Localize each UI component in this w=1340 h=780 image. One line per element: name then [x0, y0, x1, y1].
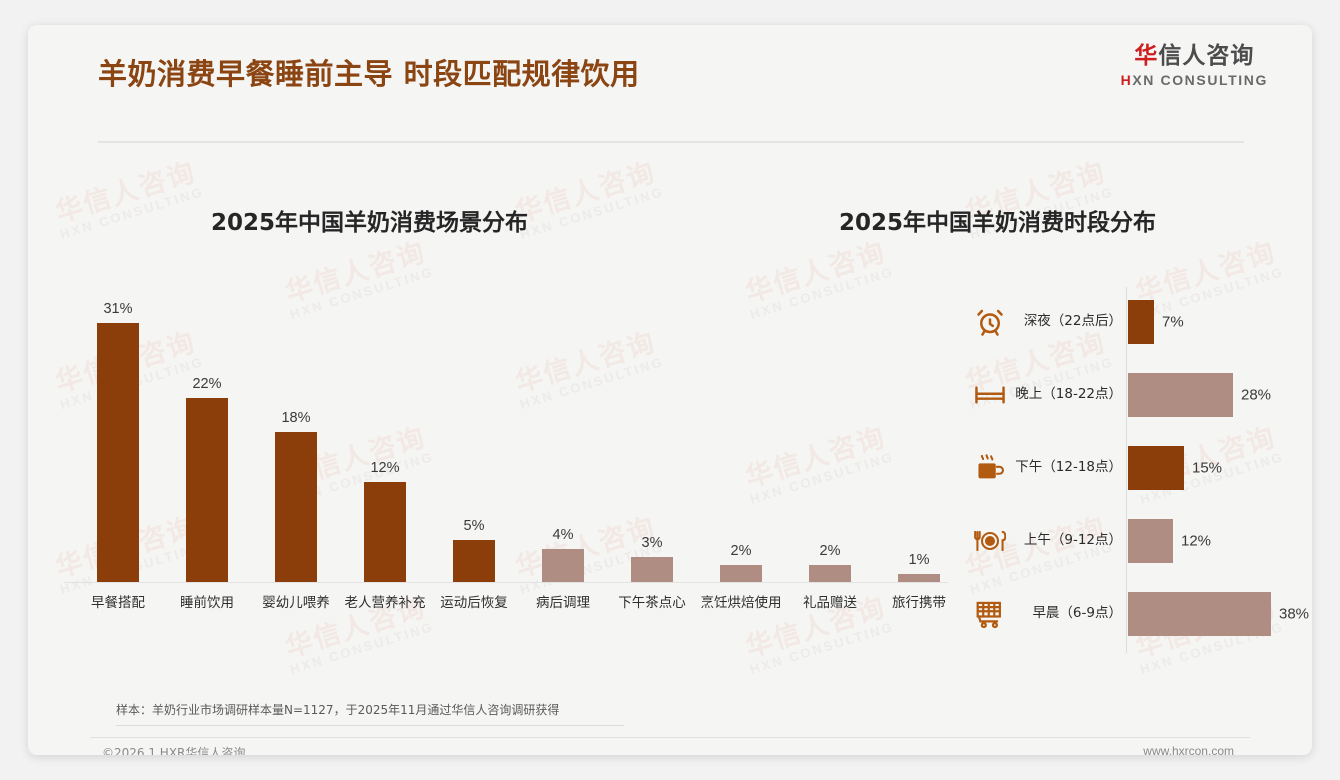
bar-value-label: 7%: [1162, 314, 1184, 331]
category-label: 病后调理: [536, 591, 590, 611]
category-label: 早餐搭配: [91, 591, 145, 611]
bar-value-label: 12%: [370, 460, 399, 476]
bar-value-label: 3%: [642, 535, 663, 551]
logo-en-rest: XN CONSULTING: [1132, 72, 1268, 88]
slide-header: 羊奶消费早餐睡前主导 时段匹配规律饮用 华信人咨询 HXN CONSULTING: [28, 25, 1312, 115]
bar-track: 38%: [1128, 581, 1298, 647]
bar-track: 28%: [1128, 362, 1298, 428]
sample-footnote: 样本：羊奶行业市场调研样本量N=1127，于2025年11月通过华信人咨询调研获…: [116, 701, 559, 718]
logo-en-red: H: [1121, 72, 1133, 88]
bar-rect: [542, 549, 584, 582]
bar-value-label: 1%: [909, 552, 930, 568]
header-divider: [98, 141, 1244, 143]
logo-cn-red: 华: [1134, 43, 1158, 69]
timeslot-label: 深夜（22点后）: [1012, 312, 1128, 332]
category-label: 礼品赠送: [803, 591, 857, 611]
bar-track: 15%: [1128, 435, 1298, 501]
category-label: 旅行携带: [892, 591, 946, 611]
column-plot-area: 31%22%18%12%5%4%3%2%2%1%: [56, 287, 956, 583]
bar-rect: [631, 557, 673, 582]
footnote-divider: [116, 725, 624, 726]
company-logo: 华信人咨询 HXN CONSULTING: [1121, 43, 1268, 88]
timeslot-label: 早晨（6-9点）: [1012, 604, 1128, 624]
column-bar[interactable]: 12%: [364, 482, 406, 582]
bar-value-label: 5%: [464, 518, 485, 534]
coffee-cup-icon: [968, 452, 1012, 484]
bar-track: 12%: [1128, 508, 1298, 574]
bar-value-label: 2%: [731, 543, 752, 559]
timeslot-label: 晚上（18-22点）: [1012, 385, 1128, 405]
timeslot-row[interactable]: 上午（9-12点）12%: [968, 508, 1298, 574]
category-label: 老人营养补充: [345, 591, 426, 611]
category-label: 烹饪烘焙使用: [701, 591, 782, 611]
slide-card: 华信人咨询HXN CONSULTING华信人咨询HXN CONSULTING华信…: [28, 25, 1312, 755]
bar-value-label: 2%: [820, 543, 841, 559]
chart-title-right: 2025年中国羊奶消费时段分布: [839, 203, 1156, 237]
alarm-clock-icon: [968, 307, 1012, 337]
column-bar[interactable]: 31%: [97, 323, 139, 582]
bar-rect: [1128, 446, 1184, 490]
bar-rect: [453, 540, 495, 582]
column-bar[interactable]: 3%: [631, 557, 673, 582]
timeslot-label: 下午（12-18点）: [1012, 458, 1128, 478]
plate-cutlery-icon: [968, 528, 1012, 554]
bar-rect: [898, 574, 940, 582]
column-category-axis: 早餐搭配睡前饮用婴幼儿喂养老人营养补充运动后恢复病后调理下午茶点心烹饪烘焙使用礼…: [56, 585, 956, 621]
category-label: 睡前饮用: [180, 591, 234, 611]
footer-website: www.hxrcon.com: [1143, 744, 1234, 755]
bar-value-label: 15%: [1192, 460, 1222, 477]
column-bar[interactable]: 18%: [275, 432, 317, 582]
timeslot-bar-chart: 深夜（22点后）7%晚上（18-22点）28%下午（12-18点）15%上午（9…: [968, 287, 1298, 653]
watermark: 华信人咨询HXN CONSULTING: [31, 151, 226, 249]
bar-rect: [1128, 373, 1233, 417]
bar-rect: [275, 432, 317, 582]
column-bar[interactable]: 22%: [186, 398, 228, 582]
scenario-column-chart: 31%22%18%12%5%4%3%2%2%1% 早餐搭配睡前饮用婴幼儿喂养老人…: [56, 287, 956, 622]
bar-value-label: 4%: [553, 527, 574, 543]
bed-icon: [968, 380, 1012, 410]
timeslot-row[interactable]: 下午（12-18点）15%: [968, 435, 1298, 501]
bar-rect: [97, 323, 139, 582]
page-title: 羊奶消费早餐睡前主导 时段匹配规律饮用: [98, 51, 640, 93]
timeslot-row[interactable]: 晚上（18-22点）28%: [968, 362, 1298, 428]
bar-value-label: 38%: [1279, 606, 1309, 623]
bar-value-label: 31%: [103, 301, 132, 317]
x-axis-baseline: [64, 582, 948, 583]
column-bar[interactable]: 5%: [453, 540, 495, 582]
chart-title-left: 2025年中国羊奶消费场景分布: [211, 203, 528, 237]
timeslot-row[interactable]: 早晨（6-9点）38%: [968, 581, 1298, 647]
category-label: 下午茶点心: [618, 591, 686, 611]
logo-cn-rest: 信人咨询: [1158, 43, 1254, 69]
column-bar[interactable]: 1%: [898, 574, 940, 582]
bar-value-label: 22%: [192, 376, 221, 392]
bar-rect: [1128, 300, 1154, 344]
shopping-cart-icon: [968, 599, 1012, 629]
column-bar[interactable]: 2%: [720, 565, 762, 582]
bar-track: 7%: [1128, 289, 1298, 355]
bar-rect: [720, 565, 762, 582]
logo-chinese: 华信人咨询: [1121, 43, 1268, 69]
bar-rect: [186, 398, 228, 582]
bar-value-label: 18%: [281, 410, 310, 426]
logo-english: HXN CONSULTING: [1121, 72, 1268, 88]
bar-rect: [1128, 592, 1271, 636]
bar-value-label: 28%: [1241, 387, 1271, 404]
footer-divider: [90, 737, 1250, 738]
bar-rect: [1128, 519, 1173, 563]
timeslot-row[interactable]: 深夜（22点后）7%: [968, 289, 1298, 355]
timeslot-label: 上午（9-12点）: [1012, 531, 1128, 551]
bar-value-label: 12%: [1181, 533, 1211, 550]
column-bar[interactable]: 4%: [542, 549, 584, 582]
category-label: 婴幼儿喂养: [262, 591, 330, 611]
column-bar[interactable]: 2%: [809, 565, 851, 582]
category-label: 运动后恢复: [440, 591, 508, 611]
bar-rect: [364, 482, 406, 582]
bar-rect: [809, 565, 851, 582]
footer-copyright: ©2026.1 HXR华信人咨询: [102, 744, 245, 755]
